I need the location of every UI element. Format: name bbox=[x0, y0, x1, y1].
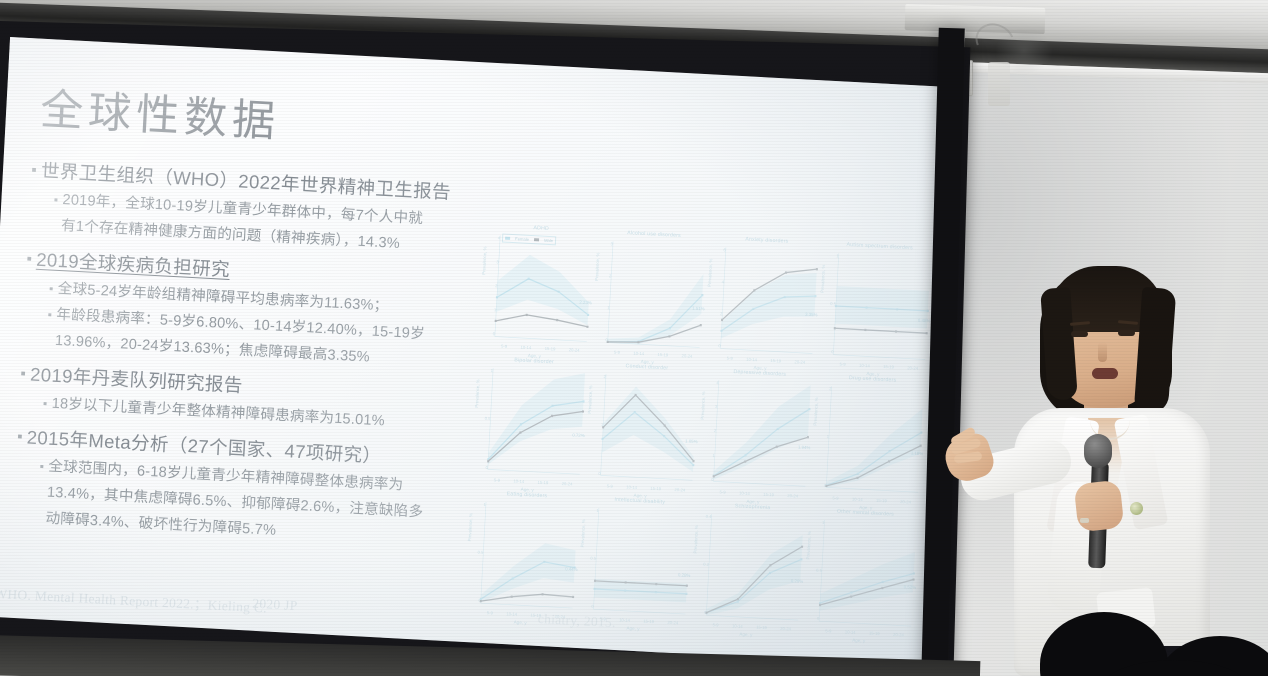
x-tick-label: 5-9 bbox=[501, 344, 507, 349]
chart-data-label: 0.44% bbox=[565, 566, 578, 572]
chart-data-label: 0.52% bbox=[904, 584, 917, 590]
chart-panel: ADHDPrevalence, %432105-910-1415-1920-24… bbox=[478, 223, 598, 362]
sub-bullet-dot-icon: ▪ bbox=[35, 454, 49, 479]
bullet-dot-icon: ▪ bbox=[16, 360, 31, 388]
chart-y-axis-label: Prevalence, % bbox=[474, 380, 480, 409]
chart-panel-title: Autism spectrum disorders bbox=[823, 241, 936, 253]
x-tick-label: 5-9 bbox=[727, 356, 733, 361]
chart-y-axis-label: Prevalence, % bbox=[813, 398, 819, 427]
chart-panel-title: Anxiety disorders bbox=[710, 235, 823, 247]
x-tick-label: 15-19 bbox=[883, 364, 894, 370]
slide-bullet-list: ▪ 世界卫生组织（WHO）2022年世界精神卫生报告 ▪ 2019年，全球10-… bbox=[8, 156, 497, 555]
chart-y-axis-label: Prevalence, % bbox=[805, 531, 811, 560]
chart-y-axis-label: Prevalence, % bbox=[693, 525, 699, 554]
x-tick-label: 10-14 bbox=[746, 357, 757, 363]
chart-plot-area bbox=[608, 241, 705, 347]
bullet-dot-icon: ▪ bbox=[26, 156, 41, 184]
projection-screen-frame: 全球性数据 ▪ 世界卫生组织（WHO）2022年世界精神卫生报告 ▪ 2019年… bbox=[0, 21, 970, 676]
chart-plot-area bbox=[495, 235, 592, 341]
x-tick-label: 10-14 bbox=[633, 351, 644, 357]
chart-plot-area bbox=[601, 375, 698, 481]
citation-part-1: WHO. Mental Health Report 2022.；Kieling … bbox=[0, 582, 253, 616]
presenter-hair-right bbox=[1134, 287, 1177, 415]
x-tick-label: 20-24 bbox=[681, 354, 692, 360]
chart-y-axis-label: Prevalence, % bbox=[820, 264, 826, 293]
sub-bullet-dot-icon: ▪ bbox=[38, 391, 52, 416]
chart-plot-area bbox=[833, 253, 930, 359]
chart-data-label: 1.05% bbox=[685, 439, 698, 445]
x-tick-label: 10-14 bbox=[520, 345, 531, 351]
x-tick-label: 20-24 bbox=[907, 366, 918, 372]
chart-plot-area bbox=[721, 247, 818, 353]
legend-swatch bbox=[505, 237, 510, 240]
chart-y-axis-label: Prevalence, % bbox=[707, 258, 713, 287]
chart-panel: Drug use disordersPrevalence, %2105-910-… bbox=[809, 374, 929, 513]
chart-data-label: 1.94% bbox=[798, 445, 811, 451]
legend-label: Male bbox=[544, 238, 553, 243]
chart-plot-area bbox=[594, 508, 691, 614]
chart-panel: Bipolar disorderPrevalence, %10.505-910-… bbox=[471, 356, 591, 495]
sub-bullet-spacer bbox=[33, 506, 46, 507]
sub-bullet-dot-icon: ▪ bbox=[49, 187, 63, 212]
chart-data-label: 0.72% bbox=[572, 433, 585, 439]
chart-data-label: 1.51% bbox=[692, 306, 705, 312]
chart-data-label: 2.23% bbox=[579, 300, 592, 306]
x-tick-label: 20-24 bbox=[562, 481, 573, 487]
presenter-brooch-icon bbox=[1130, 502, 1143, 515]
legend-swatch bbox=[534, 238, 539, 241]
chart-plot-area bbox=[826, 387, 923, 493]
presenter-ring bbox=[1080, 518, 1089, 523]
chart-panel: Autism spectrum disordersPrevalence, %10… bbox=[816, 241, 936, 380]
slide-surface: 全球性数据 ▪ 世界卫生组织（WHO）2022年世界精神卫生报告 ▪ 2019年… bbox=[0, 37, 959, 667]
x-tick-label: 15-19 bbox=[650, 485, 661, 491]
chart-panel: Anxiety disordersPrevalence, %64205-910-… bbox=[703, 235, 823, 374]
chart-plot-area bbox=[488, 369, 585, 475]
sub-bullet-spacer bbox=[43, 328, 56, 329]
wall-plate bbox=[988, 62, 1010, 106]
x-tick-label: 15-19 bbox=[876, 497, 887, 503]
x-tick-label: 10-14 bbox=[739, 490, 750, 496]
x-tick-label: 10-14 bbox=[859, 363, 870, 369]
chart-panel-grid: ADHDPrevalence, %432105-910-1415-1920-24… bbox=[464, 223, 937, 646]
sub-bullet-dot-icon: ▪ bbox=[44, 276, 58, 301]
sub-bullet-spacer bbox=[49, 213, 62, 214]
x-tick-label: 15-19 bbox=[657, 352, 668, 358]
sub-bullet-dot-icon: ▪ bbox=[43, 302, 57, 327]
chart-panel: Conduct disorderPrevalence, %2105-910-14… bbox=[584, 362, 704, 501]
x-tick-label: 5-9 bbox=[832, 495, 838, 500]
chart-plot-area bbox=[706, 514, 803, 620]
x-tick-label: 10-14 bbox=[852, 496, 863, 502]
slide-title: 全球性数据 bbox=[39, 75, 282, 150]
chart-plot-area bbox=[713, 381, 810, 487]
chart-plot-area bbox=[819, 520, 916, 626]
sub-bullet-spacer bbox=[35, 480, 48, 481]
chart-data-label: 3.35% bbox=[805, 312, 818, 318]
x-tick-label: 15-19 bbox=[545, 346, 556, 352]
x-tick-label: 5-9 bbox=[494, 477, 500, 482]
presenter-mouth bbox=[1092, 368, 1118, 379]
chart-data-label: 0.29% bbox=[791, 578, 804, 584]
x-tick-label: 15-19 bbox=[770, 358, 781, 364]
bullet-dot-icon: ▪ bbox=[22, 245, 37, 273]
presenter-hand-right bbox=[1074, 480, 1125, 533]
chart-data-label: 0.48% bbox=[918, 318, 931, 324]
chart-panel: Depressive disordersPrevalence, %432105-… bbox=[696, 368, 816, 507]
x-tick-label: 20-24 bbox=[794, 360, 805, 366]
chart-panel: Alcohol use disordersPrevalence, %32105-… bbox=[591, 229, 711, 368]
legend-label: Female bbox=[515, 236, 529, 242]
x-tick-label: 5-9 bbox=[607, 483, 613, 488]
x-tick-label: 10-14 bbox=[513, 478, 524, 484]
chart-y-axis-label: Prevalence, % bbox=[700, 392, 706, 421]
presenter-eye-right bbox=[1118, 330, 1135, 336]
chart-data-label: 0.28% bbox=[678, 572, 691, 578]
x-tick-label: 20-24 bbox=[674, 487, 685, 493]
chart-panel-title: Alcohol use disorders bbox=[597, 229, 710, 241]
x-tick-label: 15-19 bbox=[537, 479, 548, 485]
presenter-eye-left bbox=[1071, 331, 1088, 337]
chart-y-axis-label: Prevalence, % bbox=[587, 386, 593, 415]
chart-y-axis-label: Prevalence, % bbox=[467, 513, 473, 542]
lecture-photo-scene: 全球性数据 ▪ 世界卫生组织（WHO）2022年世界精神卫生报告 ▪ 2019年… bbox=[0, 0, 1268, 676]
presenter-nose bbox=[1098, 342, 1107, 362]
x-tick-label: 5-9 bbox=[839, 362, 845, 367]
microphone-icon bbox=[1084, 434, 1112, 468]
x-tick-label: 5-9 bbox=[614, 350, 620, 355]
chart-y-axis-label: Prevalence, % bbox=[481, 246, 487, 275]
x-tick-label: 20-24 bbox=[787, 493, 798, 499]
bullet-dot-icon: ▪ bbox=[12, 423, 27, 451]
x-tick-label: 20-24 bbox=[900, 499, 911, 505]
chart-y-axis-label: Prevalence, % bbox=[594, 252, 600, 281]
x-tick-label: 5-9 bbox=[720, 489, 726, 494]
x-tick-label: 10-14 bbox=[626, 484, 637, 490]
chart-data-label: 1.18% bbox=[911, 451, 924, 457]
chart-y-axis-label: Prevalence, % bbox=[580, 519, 586, 548]
x-tick-label: 20-24 bbox=[569, 348, 580, 354]
x-tick-label: 15-19 bbox=[763, 491, 774, 497]
chart-plot-area bbox=[481, 502, 578, 608]
